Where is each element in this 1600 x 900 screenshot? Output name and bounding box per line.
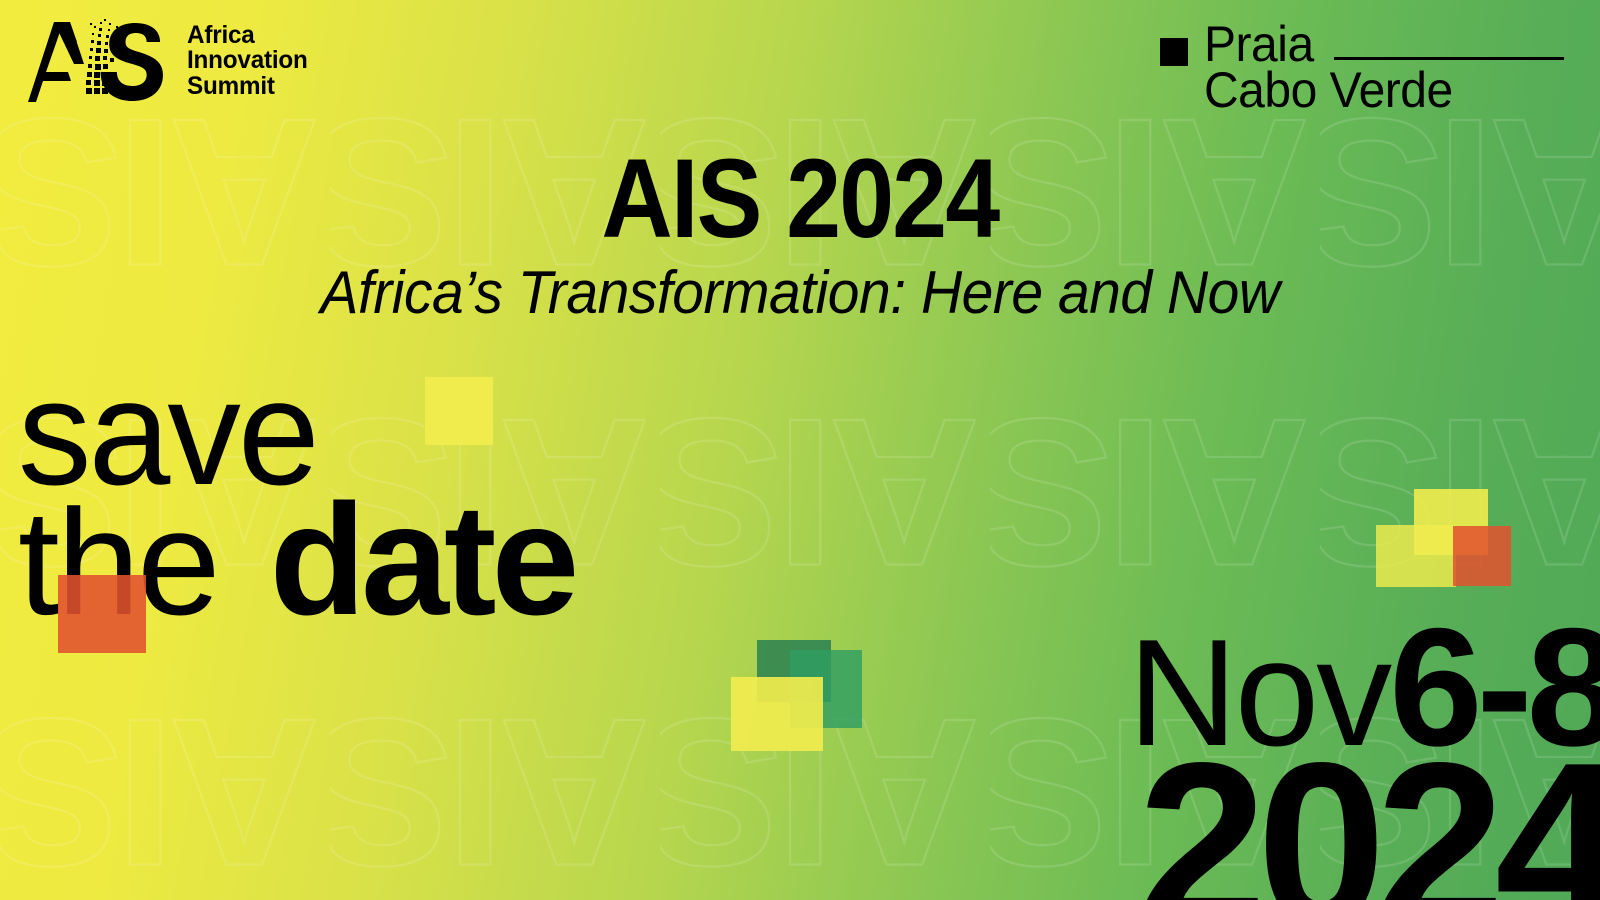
location-block: Praia Cabo Verde xyxy=(1160,18,1564,116)
yellow-square-left xyxy=(1376,525,1456,587)
logo-word-innovation: Innovation xyxy=(187,48,308,74)
yellow-square-save xyxy=(425,377,493,445)
event-date-lockup: Nov 6-8 2024 xyxy=(1128,619,1600,900)
square-bullet-icon xyxy=(1160,38,1188,66)
page-subtitle: Africa’s Transformation: Here and Now xyxy=(40,260,1560,326)
poster-canvas: AIS xyxy=(0,0,1600,900)
logo-word-africa: Africa xyxy=(187,23,308,49)
ais-pixel-logo-icon xyxy=(24,18,174,104)
red-square-days xyxy=(1453,526,1511,586)
logo-word-summit: Summit xyxy=(187,74,308,100)
ais-logo: Africa Innovation Summit xyxy=(24,18,311,104)
logo-wordmark: Africa Innovation Summit xyxy=(187,23,308,100)
event-date-year: 2024 xyxy=(1128,752,1600,900)
horizontal-rule-icon xyxy=(1334,57,1564,60)
page-title: AIS 2024 xyxy=(96,140,1504,258)
location-country: Cabo Verde xyxy=(1204,64,1453,116)
red-square-the xyxy=(58,575,146,653)
yellow-square-date xyxy=(731,677,823,751)
headline-block: AIS 2024 Africa’s Transformation: Here a… xyxy=(0,140,1600,326)
